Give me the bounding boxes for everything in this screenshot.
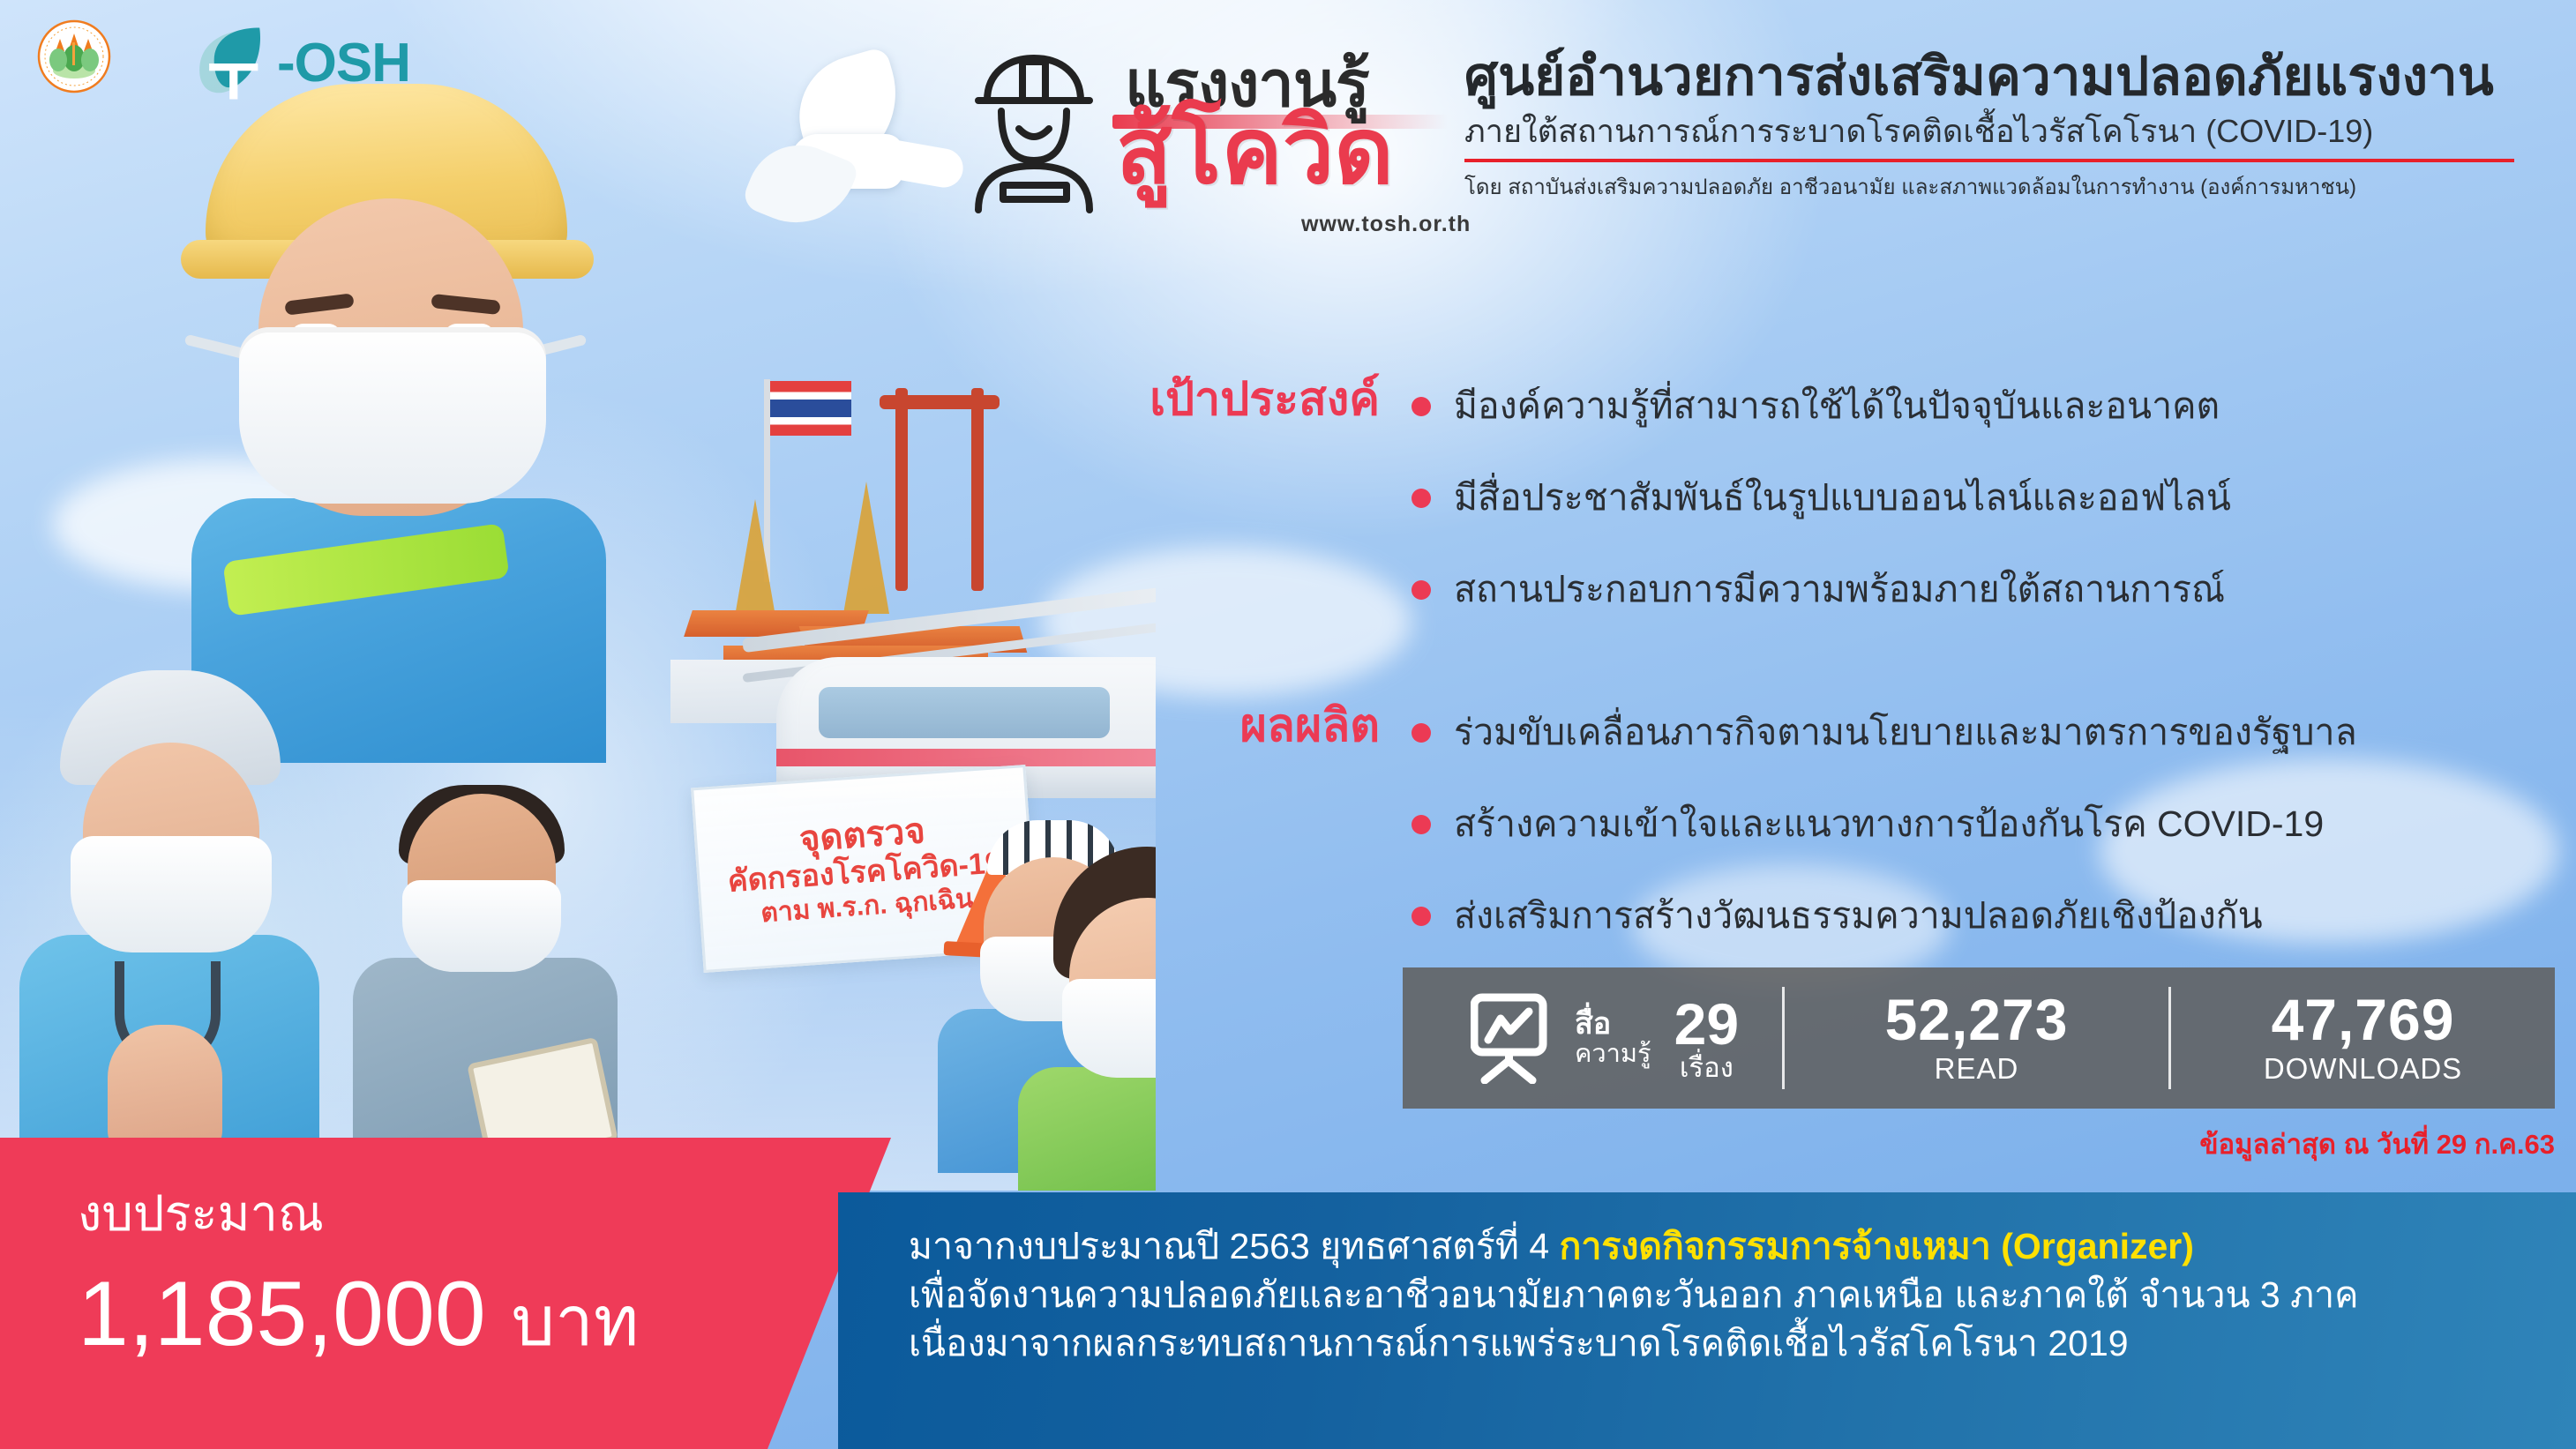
stat-downloads-label: DOWNLOADS	[2264, 1052, 2462, 1086]
budget-label: งบประมาณ	[78, 1189, 891, 1238]
list-item: สถานประกอบการมีความพร้อมภายใต้สถานการณ์	[1412, 558, 2231, 622]
infographic-poster: จุดตรวจ คัดกรองโรคโควิด-19 ตาม พ.ร.ก. ฉุ…	[0, 0, 2576, 1449]
presentation-chart-icon	[1471, 992, 1552, 1084]
tosh-leaf-icon	[185, 23, 277, 104]
stat-downloads-value: 47,769	[2272, 990, 2455, 1049]
objective-list: มีองค์ความรู้ที่สามารถใช้ได้ในปัจจุบันแล…	[1412, 375, 2231, 622]
doctor-photo	[9, 670, 326, 1164]
statistics-bar: สื่อ ความรู้ 29 เรื่อง 52,273 READ 47,76…	[1403, 967, 2555, 1109]
bullet-dot-icon	[1412, 723, 1431, 743]
stat-media-label: สื่อ ความรู้	[1575, 1009, 1651, 1067]
budget-note-line-3: เนื่องมาจากผลกระทบสถานการณ์การแพร่ระบาดโ…	[909, 1319, 2576, 1368]
bullet-dot-icon	[1412, 397, 1431, 416]
stat-read-label: READ	[1935, 1052, 2019, 1086]
output-list: ร่วมขับเคลื่อนภารกิจตามนโยบายและมาตรการข…	[1412, 701, 2357, 948]
page-subtitle: ภายใต้สถานการณ์การระบาดโรคติดเชื้อไวรัสโ…	[1464, 112, 2558, 150]
brand-line-2: สู้โควิด	[1116, 106, 1394, 198]
tosh-logo: -OSH	[185, 25, 441, 102]
budget-panel: งบประมาณ 1,185,000 บาท	[0, 1138, 891, 1449]
list-item-label: สถานประกอบการมีความพร้อมภายใต้สถานการณ์	[1454, 570, 2225, 609]
thai-flag	[770, 381, 851, 436]
stat-read-value: 52,273	[1885, 990, 2069, 1049]
stat-media: สื่อ ความรู้ 29 เรื่อง	[1403, 967, 1782, 1109]
page-title: ศูนย์อำนวยการส่งเสริมความปลอดภัยแรงงาน	[1464, 49, 2558, 105]
budget-note-line-2: เพื่อจัดงานความปลอดภัยและอาชีวอนามัยภาคต…	[909, 1271, 2576, 1319]
objective-label: เป้าประสงค์	[1129, 375, 1412, 425]
bullet-dot-icon	[1412, 815, 1431, 834]
budget-note-bar: มาจากงบประมาณปี 2563 ยุทธศาสตร์ที่ 4 การ…	[838, 1192, 2576, 1449]
list-item-label: ร่วมขับเคลื่อนภารกิจตามนโยบายและมาตรการข…	[1454, 713, 2357, 752]
stat-downloads: 47,769 DOWNLOADS	[2171, 967, 2555, 1109]
list-item: ร่วมขับเคลื่อนภารกิจตามนโยบายและมาตรการข…	[1412, 701, 2357, 765]
header-block: ศูนย์อำนวยการส่งเสริมความปลอดภัยแรงงาน ภ…	[1464, 49, 2558, 204]
engineer-photo	[154, 84, 613, 754]
header-attribution: โดย สถาบันส่งเสริมความปลอดภัย อาชีวอนามั…	[1464, 169, 2558, 204]
budget-note-line-1: มาจากงบประมาณปี 2563 ยุทธศาสตร์ที่ 4 การ…	[909, 1222, 2576, 1271]
worker-helmet-icon	[957, 46, 1112, 213]
bullet-dot-icon	[1412, 580, 1431, 600]
list-item-label: มีองค์ความรู้ที่สามารถใช้ได้ในปัจจุบันแล…	[1454, 386, 2220, 426]
stat-read: 52,273 READ	[1785, 967, 2168, 1109]
ministry-emblem-logo	[30, 16, 118, 104]
objective-section: เป้าประสงค์ มีองค์ความรู้ที่สามารถใช้ได้…	[1129, 375, 2231, 622]
stat-media-count: 29 เรื่อง	[1674, 995, 1739, 1082]
list-item-label: สร้างความเข้าใจและแนวทางการป้องกันโรค CO…	[1454, 804, 2324, 844]
list-item: ส่งเสริมการสร้างวัฒนธรรมความปลอดภัยเชิงป…	[1412, 885, 2357, 948]
dove-illustration	[706, 53, 970, 247]
list-item: มีองค์ความรู้ที่สามารถใช้ได้ในปัจจุบันแล…	[1412, 375, 2231, 438]
budget-note-highlight: การงดกิจกรรมการจ้างเหมา (Organizer)	[1560, 1226, 2194, 1266]
list-item-label: ส่งเสริมการสร้างวัฒนธรรมความปลอดภัยเชิงป…	[1454, 896, 2263, 936]
header-divider	[1464, 159, 2514, 162]
worker-photo	[344, 785, 626, 1164]
list-item: สร้างความเข้าใจและแนวทางการป้องกันโรค CO…	[1412, 793, 2357, 856]
output-label: ผลผลิต	[1129, 701, 1412, 751]
list-item: มีสื่อประชาสัมพันธ์ในรูปแบบออนไลน์และออฟ…	[1412, 467, 2231, 530]
list-item-label: มีสื่อประชาสัมพันธ์ในรูปแบบออนไลน์และออฟ…	[1454, 478, 2231, 518]
bullet-dot-icon	[1412, 489, 1431, 508]
output-section: ผลผลิต ร่วมขับเคลื่อนภารกิจตามนโยบายและม…	[1129, 701, 2357, 948]
brand-website-url: www.tosh.or.th	[1301, 212, 1471, 237]
tosh-logo-text: -OSH	[277, 36, 410, 91]
bullet-dot-icon	[1412, 907, 1431, 926]
budget-amount: 1,185,000 บาท	[78, 1263, 891, 1365]
data-as-of-date: ข้อมูลล่าสุด ณ วันที่ 29 ก.ค.63	[1403, 1122, 2555, 1166]
campaign-brand-lockup: แรงงานรู้ สู้โควิด www.tosh.or.th	[957, 37, 1451, 240]
